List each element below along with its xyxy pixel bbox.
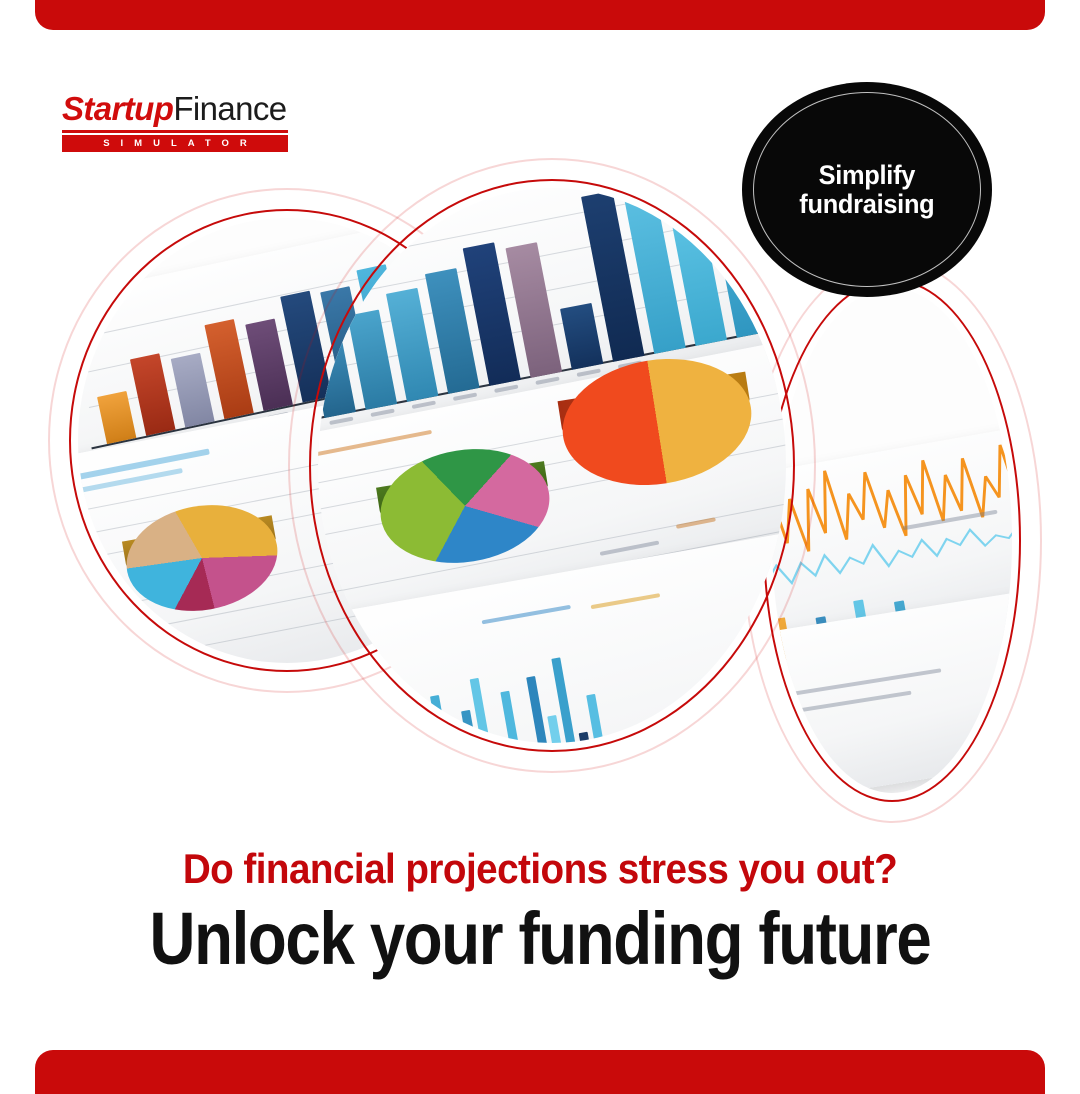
logo-startup-text: Startup [62, 90, 173, 127]
top-red-bar [35, 0, 1045, 30]
bar [130, 353, 176, 436]
axis-label [494, 384, 518, 393]
bar [380, 734, 406, 743]
logo-wordmark: StartupFinance [62, 92, 302, 125]
bar [347, 310, 397, 410]
bar [586, 694, 613, 743]
pie-chart-flat [693, 643, 786, 743]
blurred-caption [482, 605, 571, 625]
blurred-caption [600, 541, 660, 556]
axis-label [412, 400, 436, 409]
bar [500, 691, 530, 743]
axis-label [577, 368, 601, 377]
logo-finance-text: Finance [173, 90, 286, 127]
badge-line-2: fundraising [799, 190, 934, 219]
badge-line-1: Simplify [799, 161, 934, 190]
bar [470, 678, 503, 743]
blurred-caption [591, 593, 661, 609]
logo-divider-rule [62, 130, 288, 133]
bar [430, 695, 461, 743]
circle-middle [288, 158, 816, 773]
bar [171, 353, 215, 428]
axis-label [370, 409, 394, 418]
axis-label [535, 376, 559, 385]
spike-group [352, 638, 673, 743]
pie-top-face [693, 643, 786, 743]
axis-label [453, 392, 477, 401]
simplify-fundraising-badge: Simplify fundraising [742, 82, 992, 297]
badge-text: Simplify fundraising [799, 161, 934, 218]
blurred-caption [676, 517, 716, 529]
bar [318, 339, 356, 418]
circle-middle-photo [318, 188, 786, 743]
headline-main: Unlock your funding future [76, 900, 1005, 978]
headline-eyebrow: Do financial projections stress you out? [43, 845, 1037, 893]
axis-label [329, 417, 353, 426]
bar [405, 712, 434, 743]
bar [560, 303, 603, 370]
bottom-red-bar [35, 1050, 1045, 1094]
